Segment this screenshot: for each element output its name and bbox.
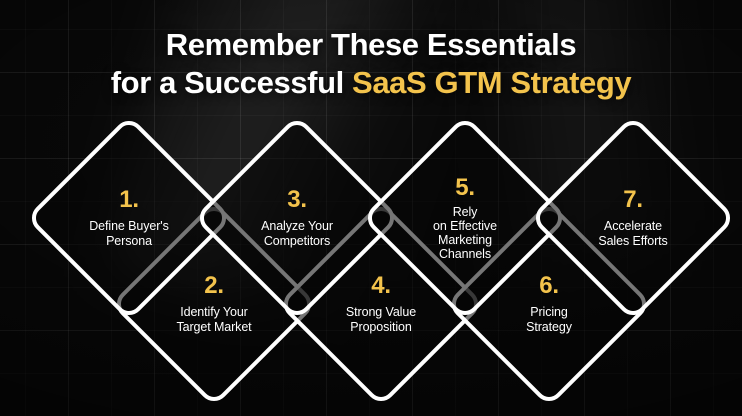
step-number-1: 1.: [119, 188, 139, 212]
title-line-2-accent: SaaS GTM Strategy: [352, 65, 631, 100]
title-line-1: Remember These Essentials: [0, 28, 742, 61]
page-title: Remember These Essentials for a Successf…: [0, 28, 742, 99]
step-number-3: 3.: [287, 188, 307, 212]
step-number-4: 4.: [371, 274, 391, 298]
step-label-1: Define Buyer's Persona: [89, 219, 169, 248]
step-card-3-content: 3. Analyze Your Competitors: [224, 145, 370, 291]
step-card-1-content: 1. Define Buyer's Persona: [56, 145, 202, 291]
step-number-6: 6.: [539, 274, 559, 298]
step-label-6: Pricing Strategy: [526, 305, 572, 334]
step-label-2: Identify Your Target Market: [176, 305, 251, 334]
step-label-5: Rely on Effective Marketing Channels: [433, 205, 497, 261]
step-label-3: Analyze Your Competitors: [261, 219, 333, 248]
step-label-4: Strong Value Proposition: [346, 305, 416, 334]
step-number-2: 2.: [204, 274, 224, 298]
step-label-7: Accelerate Sales Efforts: [598, 219, 667, 248]
step-card-7-content: 7. Accelerate Sales Efforts: [560, 145, 706, 291]
step-card-5-content: 5. Rely on Effective Marketing Channels: [392, 145, 538, 291]
step-number-7: 7.: [623, 188, 643, 212]
title-line-2: for a Successful SaaS GTM Strategy: [0, 66, 742, 99]
step-number-5: 5.: [455, 176, 475, 200]
step-card-7[interactable]: 7. Accelerate Sales Efforts: [530, 115, 736, 321]
title-line-2-prefix: for a Successful: [111, 65, 352, 100]
infographic-slide: Remember These Essentials for a Successf…: [0, 0, 742, 416]
